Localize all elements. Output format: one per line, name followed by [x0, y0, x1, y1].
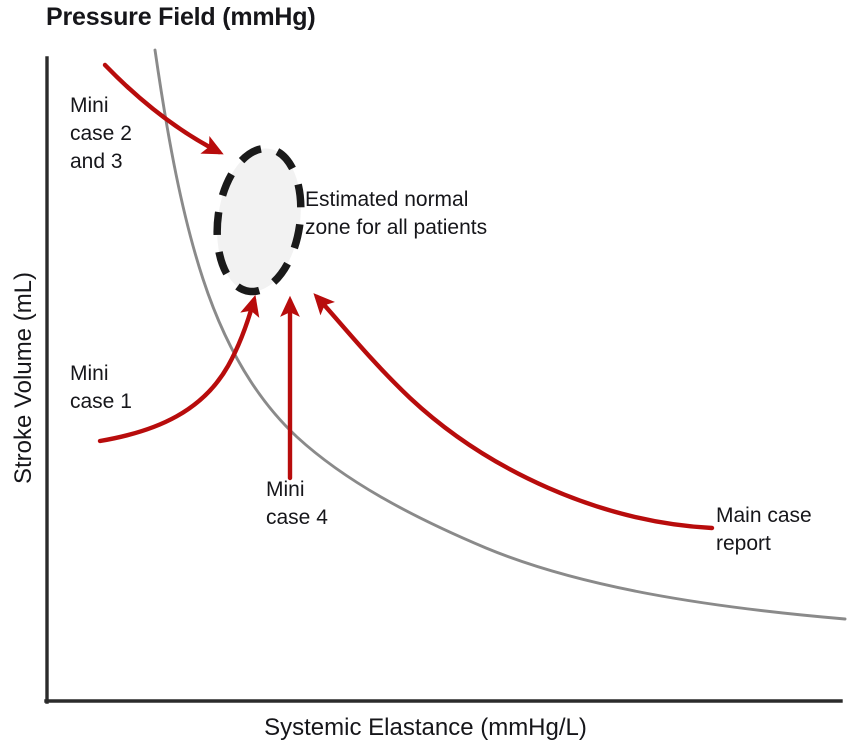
figure-root: Pressure Field (mmHg) Systemic Elastance…: [0, 0, 851, 753]
y-axis-label: Stroke Volume (mL): [10, 213, 38, 543]
annotation-mini-case-1: Mini case 1: [70, 360, 132, 416]
annotation-mini-case-2-and-3: Mini case 2 and 3: [70, 92, 132, 176]
annotation-estimated-normal-zone: Estimated normal zone for all patients: [305, 186, 487, 242]
x-axis-label: Systemic Elastance (mmHg/L): [0, 714, 851, 742]
annotation-mini-case-4: Mini case 4: [266, 476, 328, 532]
page-title: Pressure Field (mmHg): [46, 3, 315, 32]
estimated-normal-zone-ellipse: [208, 143, 309, 297]
annotation-main-case-report: Main case report: [716, 502, 812, 558]
